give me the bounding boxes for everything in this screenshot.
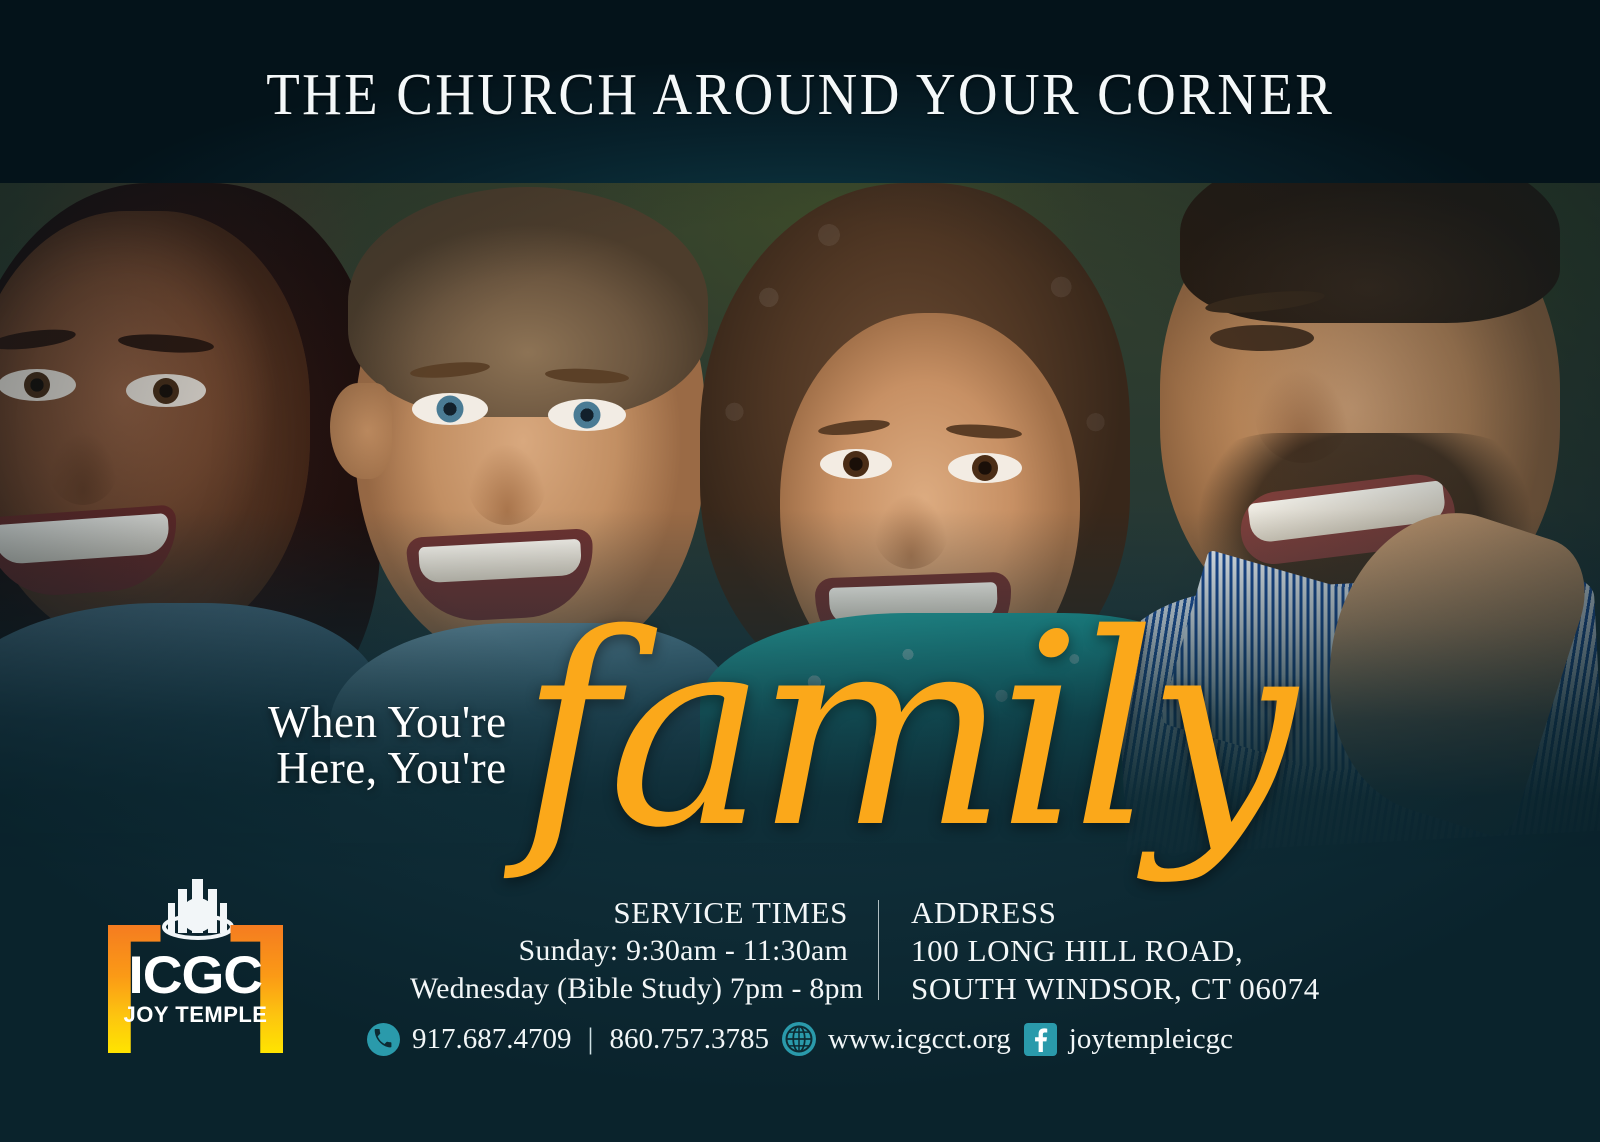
phone-icon: [367, 1023, 400, 1056]
hero-script-word: family: [520, 600, 1287, 865]
hero-tagline-line-2: Here, You're: [268, 746, 507, 792]
globe-icon: [782, 1022, 816, 1056]
phone-contact-group[interactable]: 917.687.4709 | 860.757.3785: [367, 1022, 769, 1056]
address-line-city: SOUTH WINDSOR, CT 06074: [911, 970, 1320, 1008]
address-line-street: 100 LONG HILL ROAD,: [911, 932, 1320, 970]
facebook-contact-group[interactable]: joytempleicgc: [1024, 1023, 1233, 1056]
service-times-line-wednesday: Wednesday (Bible Study) 7pm - 8pm: [410, 970, 848, 1008]
address-heading: ADDRESS: [911, 894, 1320, 932]
website-contact-group[interactable]: www.icgcct.org: [782, 1022, 1011, 1056]
phone-secondary-text: 860.757.3785: [609, 1023, 769, 1056]
service-times-line-sunday: Sunday: 9:30am - 11:30am: [410, 932, 848, 970]
phone-separator: |: [583, 1022, 597, 1056]
hero-tagline-line-1: When You're: [268, 700, 507, 746]
website-text: www.icgcct.org: [828, 1023, 1011, 1056]
facebook-handle-text: joytempleicgc: [1069, 1023, 1233, 1056]
service-times-block: SERVICE TIMES Sunday: 9:30am - 11:30am W…: [410, 894, 878, 1007]
header-title: THE CHURCH AROUND YOUR CORNER: [266, 54, 1334, 129]
header-bar: THE CHURCH AROUND YOUR CORNER: [0, 0, 1600, 183]
info-columns: SERVICE TIMES Sunday: 9:30am - 11:30am W…: [410, 894, 1320, 1009]
hero-tagline: When You're Here, You're: [268, 700, 507, 792]
contact-bar: 917.687.4709 | 860.757.3785 www.icgcct.o…: [0, 1022, 1600, 1056]
service-times-heading: SERVICE TIMES: [410, 894, 848, 932]
logo-primary-text: ICGC: [129, 951, 263, 1001]
phone-primary-text: 917.687.4709: [412, 1023, 572, 1056]
facebook-icon: [1024, 1023, 1057, 1056]
church-flyer: THE CHURCH AROUND YOUR CORNER family Whe…: [0, 0, 1600, 1142]
address-block: ADDRESS 100 LONG HILL ROAD, SOUTH WINDSO…: [879, 894, 1320, 1009]
